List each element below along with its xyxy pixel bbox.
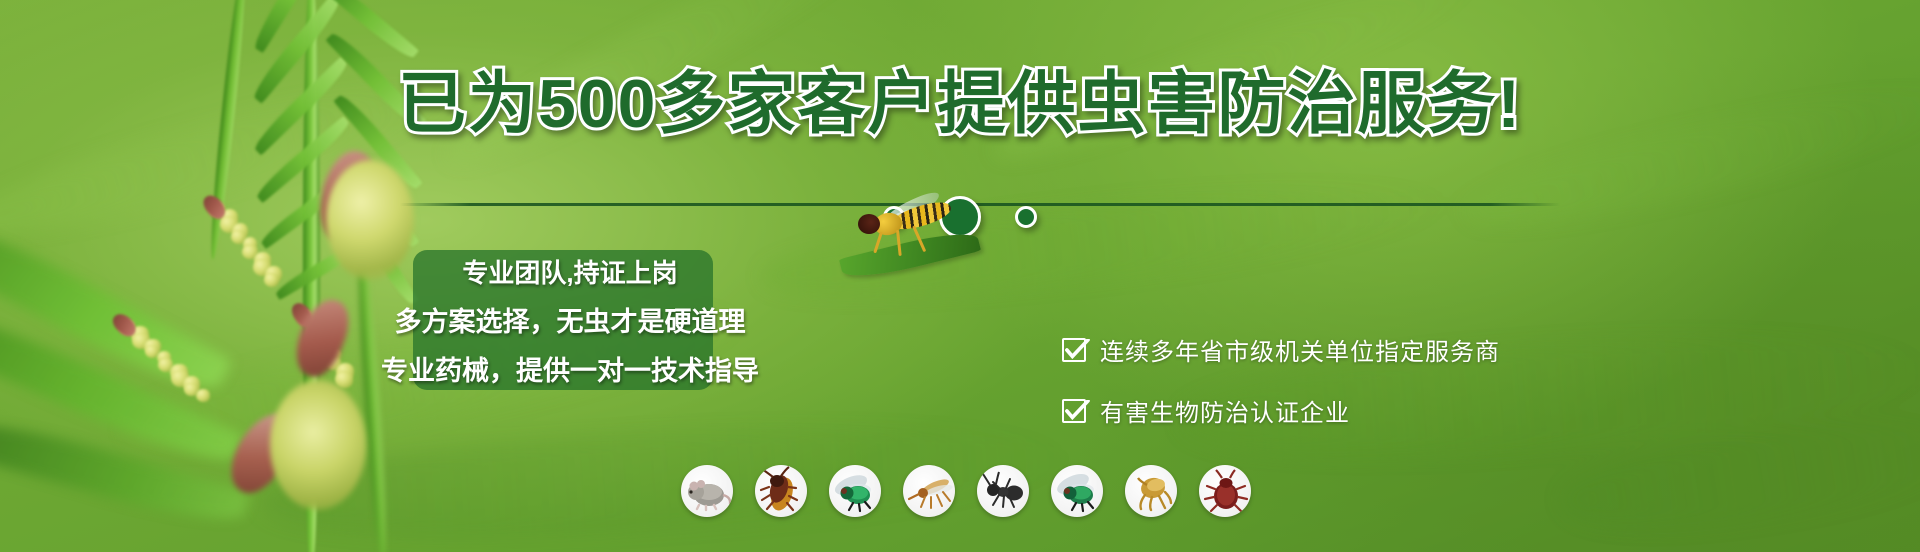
feature-slogans: 专业团队,持证上岗 多方案选择，无虫才是硬道理 专业药械，提供一对一技术指导 xyxy=(340,252,800,388)
flea-icon[interactable] xyxy=(1125,465,1177,517)
cockroach-icon[interactable] xyxy=(755,465,807,517)
ant-icon[interactable] xyxy=(977,465,1029,517)
page-title: 已为500多家客户提供虫害防治服务! xyxy=(0,70,1920,138)
dot-small-right xyxy=(1015,206,1037,228)
certification-text: 有害生物防治认证企业 xyxy=(1100,393,1350,428)
certification-list: 连续多年省市级机关单位指定服务商 有害生物防治认证企业 xyxy=(1062,332,1500,428)
plant-flower-cluster-2 xyxy=(270,380,366,510)
slogan-line-2: 多方案选择，无虫才是硬道理 xyxy=(340,300,800,339)
green-fly-icon[interactable] xyxy=(829,465,881,517)
fly-icon[interactable] xyxy=(1051,465,1103,517)
plant-catkin-a-bud-10 xyxy=(264,273,279,287)
list-item: 连续多年省市级机关单位指定服务商 xyxy=(1062,332,1500,367)
checkbox-checked-icon xyxy=(1062,338,1086,362)
head xyxy=(858,214,880,234)
pest-control-banner: 已为500多家客户提供虫害防治服务! 专业团队,持证上岗 多方案选择，无虫才是硬… xyxy=(0,0,1920,552)
bedbug-icon[interactable] xyxy=(1199,465,1251,517)
list-item: 有害生物防治认证企业 xyxy=(1062,393,1500,428)
slogan-line-1: 专业团队,持证上岗 xyxy=(340,253,800,290)
certification-text: 连续多年省市级机关单位指定服务商 xyxy=(1100,332,1500,367)
headline-text: 已为500多家客户提供虫害防治服务! xyxy=(398,66,1522,142)
mosquito-icon[interactable] xyxy=(903,465,955,517)
checkbox-checked-icon xyxy=(1062,399,1086,423)
plant-catkin-b-bud-11 xyxy=(196,389,210,402)
hoverfly-icon xyxy=(850,196,970,266)
pest-icon-strip xyxy=(681,465,1251,517)
mouse-icon[interactable] xyxy=(681,465,733,517)
slogan-line-3: 专业药械，提供一对一技术指导 xyxy=(340,349,800,388)
